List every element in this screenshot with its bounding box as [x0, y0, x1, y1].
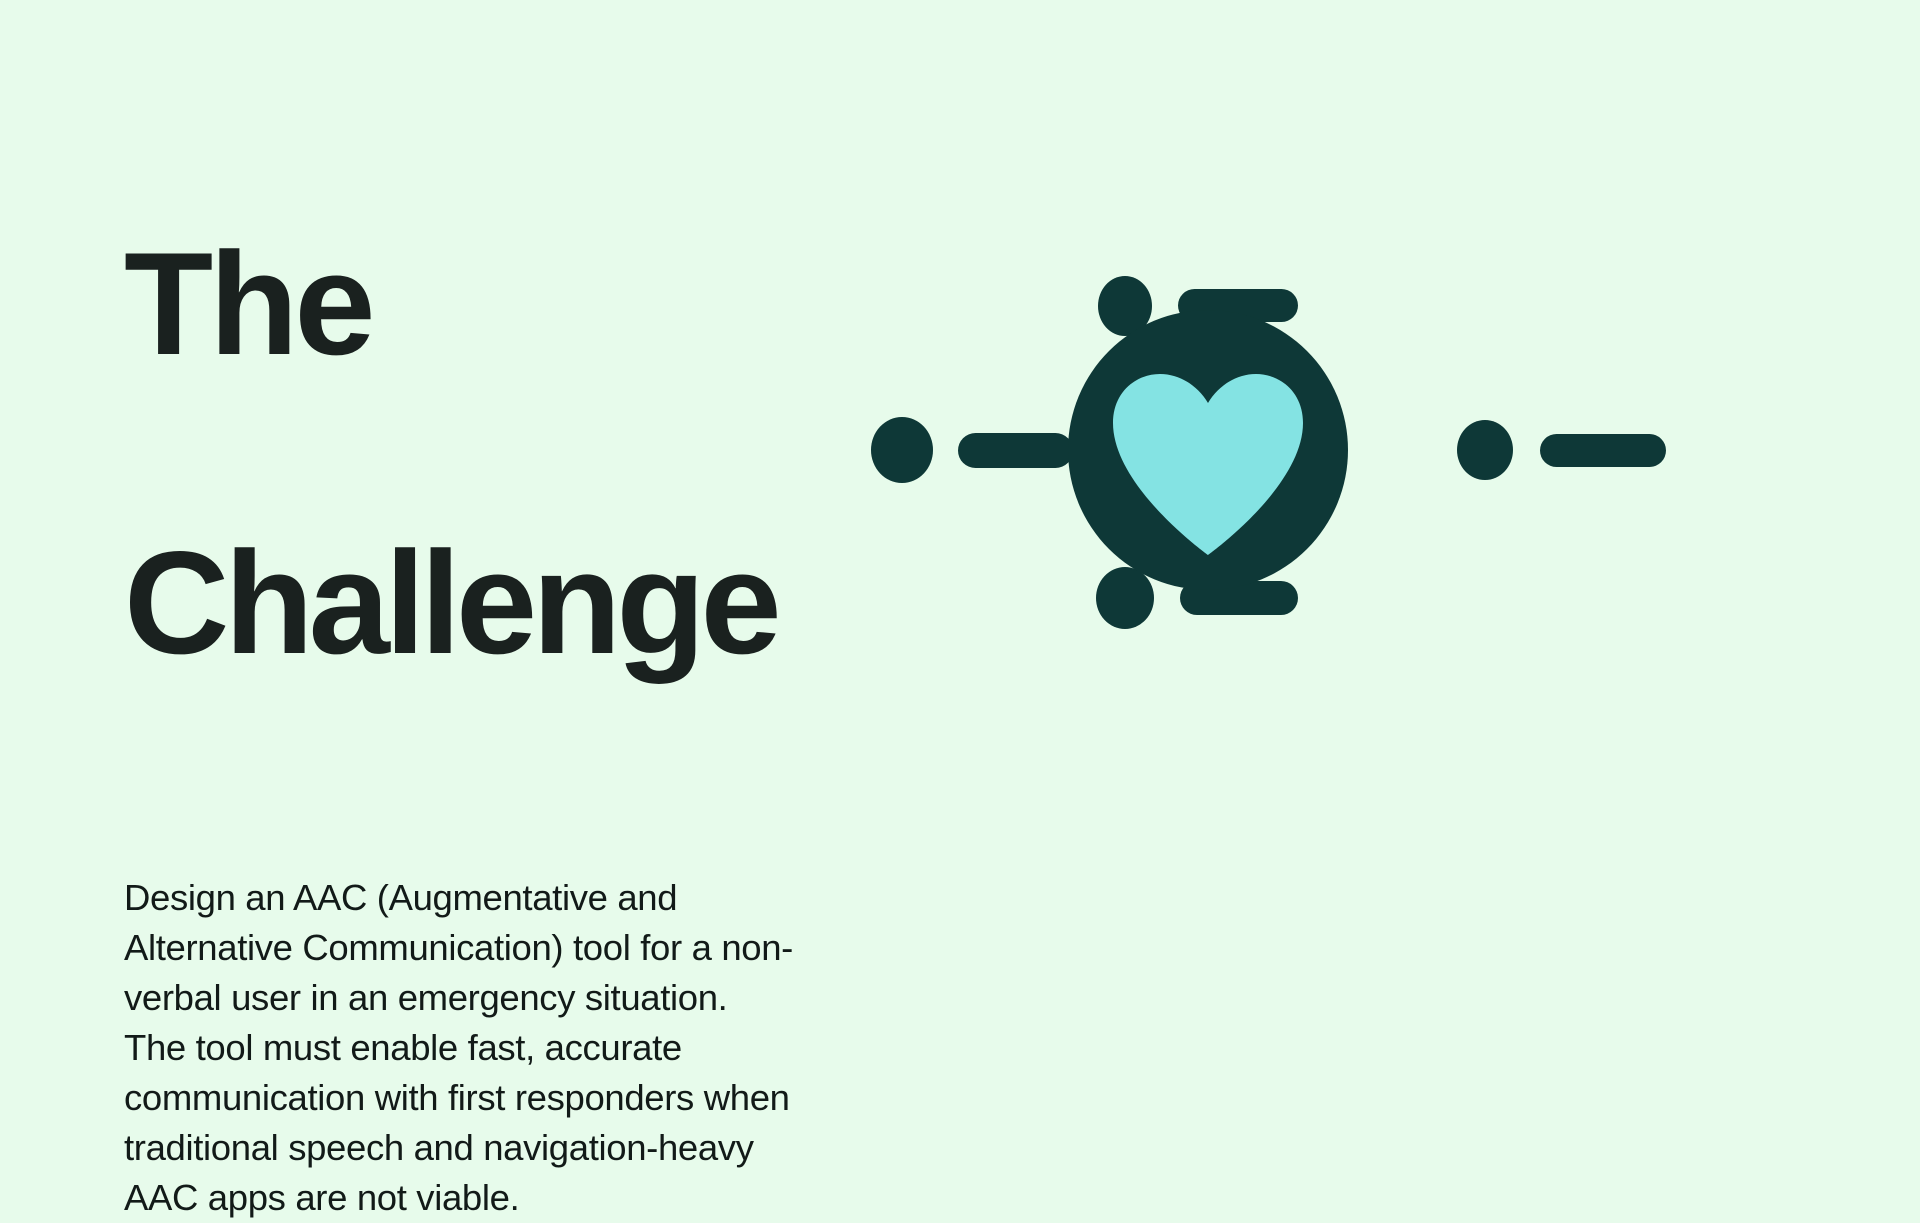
heart-signal-illustration	[860, 250, 1560, 670]
signal-bottom-dot-icon	[1096, 567, 1154, 629]
signal-left-dash-icon	[958, 433, 1073, 468]
signal-left-group	[871, 417, 1073, 483]
signal-right-group	[1457, 420, 1666, 480]
text-column: The Challenge Design an AAC (Augmentativ…	[124, 96, 824, 1223]
slide-root: The Challenge Design an AAC (Augmentativ…	[0, 0, 1920, 1131]
signal-right-dash-icon	[1540, 434, 1666, 467]
page-title: The Challenge	[124, 96, 824, 811]
headline-line-2: Challenge	[124, 534, 824, 673]
signal-left-dot-icon	[871, 417, 933, 483]
challenge-description: Design an AAC (Augmentative and Alternat…	[124, 873, 796, 1223]
headline-line-1: The	[124, 235, 824, 374]
signal-right-dot-icon	[1457, 420, 1513, 480]
